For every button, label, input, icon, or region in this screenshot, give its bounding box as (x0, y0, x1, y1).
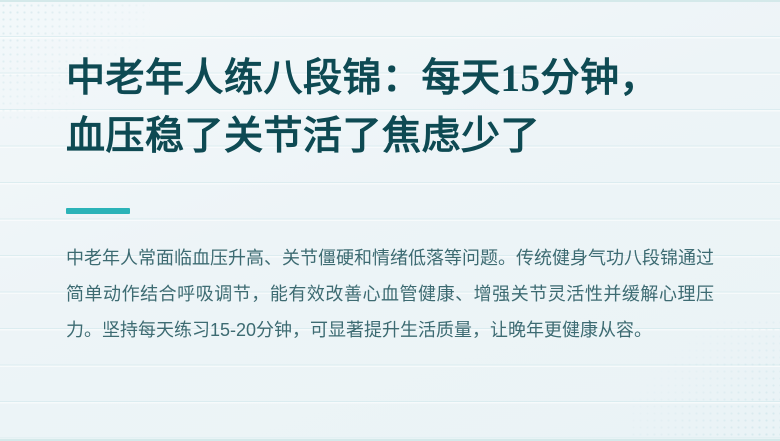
article-card: 中老年人练八段锦：每天15分钟， 血压稳了关节活了焦虑少了 中老年人常面临血压升… (0, 0, 780, 441)
content-container: 中老年人练八段锦：每天15分钟， 血压稳了关节活了焦虑少了 中老年人常面临血压升… (0, 2, 780, 348)
article-summary: 中老年人常面临血压升高、关节僵硬和情绪低落等问题。传统健身气功八段锦通过简单动作… (66, 214, 714, 348)
page-title: 中老年人练八段锦：每天15分钟， 血压稳了关节活了焦虑少了 (66, 2, 714, 166)
